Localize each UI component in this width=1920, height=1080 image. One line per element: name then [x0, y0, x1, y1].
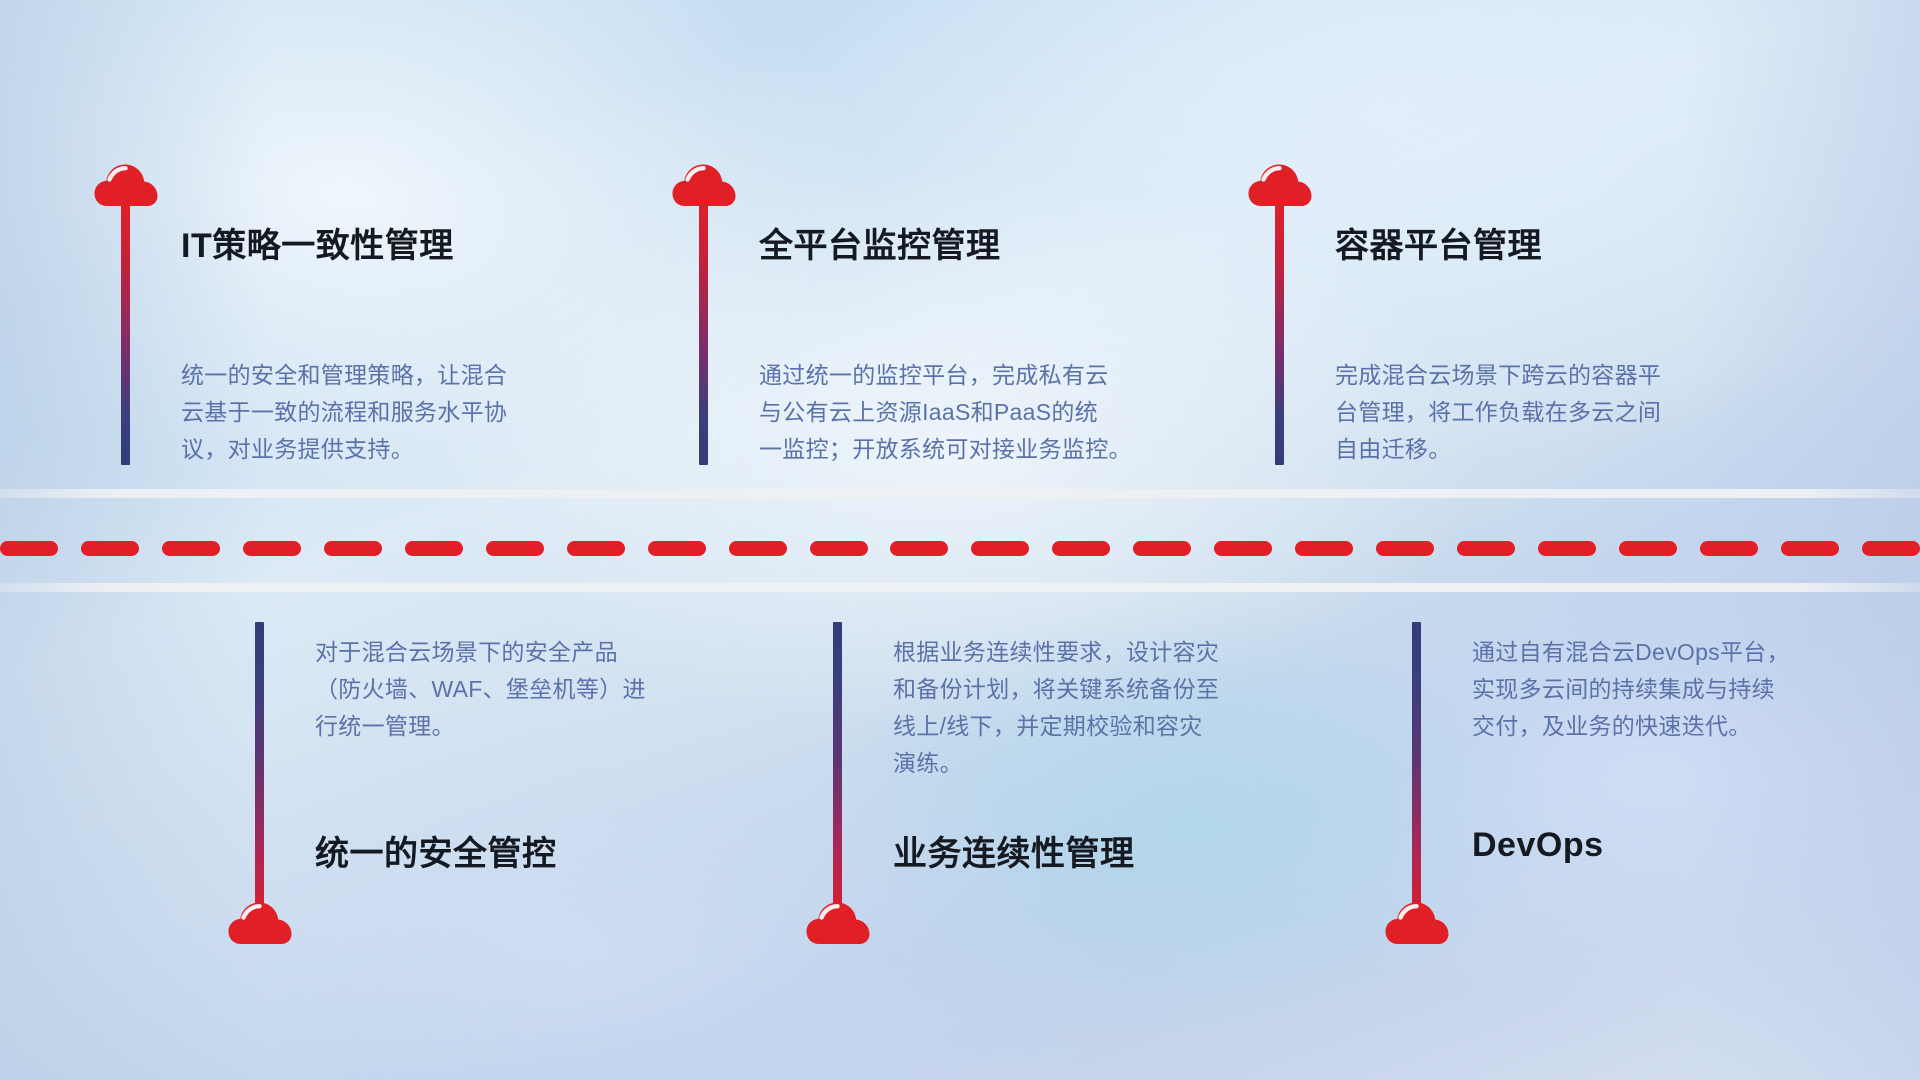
cloud-icon [94, 162, 158, 208]
road-dash [1862, 541, 1920, 556]
road-dash [162, 541, 220, 556]
road-dash [81, 541, 139, 556]
road-dash [405, 541, 463, 556]
road-dash [1295, 541, 1353, 556]
road-dash [1214, 541, 1272, 556]
road-dash [1052, 541, 1110, 556]
road-dash [971, 541, 1029, 556]
road-lane-edge-bottom [0, 583, 1920, 592]
road-dash [1133, 541, 1191, 556]
stem-connector [1412, 622, 1421, 907]
stem-connector [121, 205, 130, 465]
stem-connector [833, 622, 842, 907]
bottom-column-description: 对于混合云场景下的安全产品 （防火墙、WAF、堡垒机等）进 行统一管理。 [315, 634, 745, 745]
road-lane-edge-top [0, 489, 1920, 498]
cloud-icon [806, 900, 870, 946]
road-dash [648, 541, 706, 556]
top-column-description: 统一的安全和管理策略，让混合 云基于一致的流程和服务水平协 议，对业务提供支持。 [181, 357, 611, 468]
road-dash [810, 541, 868, 556]
road-dash [567, 541, 625, 556]
bottom-column-title: DevOps [1472, 826, 1604, 865]
bottom-column-title: 统一的安全管控 [315, 826, 557, 875]
bottom-column-description: 通过自有混合云DevOps平台， 实现多云间的持续集成与持续 交付，及业务的快速… [1472, 634, 1902, 745]
road-dash [1538, 541, 1596, 556]
road-dash [1619, 541, 1677, 556]
cloud-icon [1385, 900, 1449, 946]
top-column-title: IT策略一致性管理 [181, 218, 454, 267]
stem-connector [1275, 205, 1284, 465]
road-dash [243, 541, 301, 556]
bottom-column-description: 根据业务连续性要求，设计容灾 和备份计划，将关键系统备份至 线上/线下，并定期校… [893, 634, 1323, 782]
road-dash [1781, 541, 1839, 556]
road-dash [324, 541, 382, 556]
cloud-icon [672, 162, 736, 208]
road-dash [890, 541, 948, 556]
road-dash [1376, 541, 1434, 556]
stem-connector [699, 205, 708, 465]
road-dash [0, 541, 58, 556]
stem-connector [255, 622, 264, 907]
road-dash [729, 541, 787, 556]
top-column-description: 完成混合云场景下跨云的容器平 台管理，将工作负载在多云之间 自由迁移。 [1335, 357, 1765, 468]
cloud-icon [228, 900, 292, 946]
bottom-column-title: 业务连续性管理 [893, 826, 1135, 875]
top-column-description: 通过统一的监控平台，完成私有云 与公有云上资源IaaS和PaaS的统 一监控；开… [759, 357, 1209, 468]
top-column-title: 容器平台管理 [1335, 218, 1542, 267]
road-dash [1457, 541, 1515, 556]
road-dash [1700, 541, 1758, 556]
road-dashed-center-line [0, 540, 1920, 556]
cloud-icon [1248, 162, 1312, 208]
top-column-title: 全平台监控管理 [759, 218, 1001, 267]
road-dash [486, 541, 544, 556]
